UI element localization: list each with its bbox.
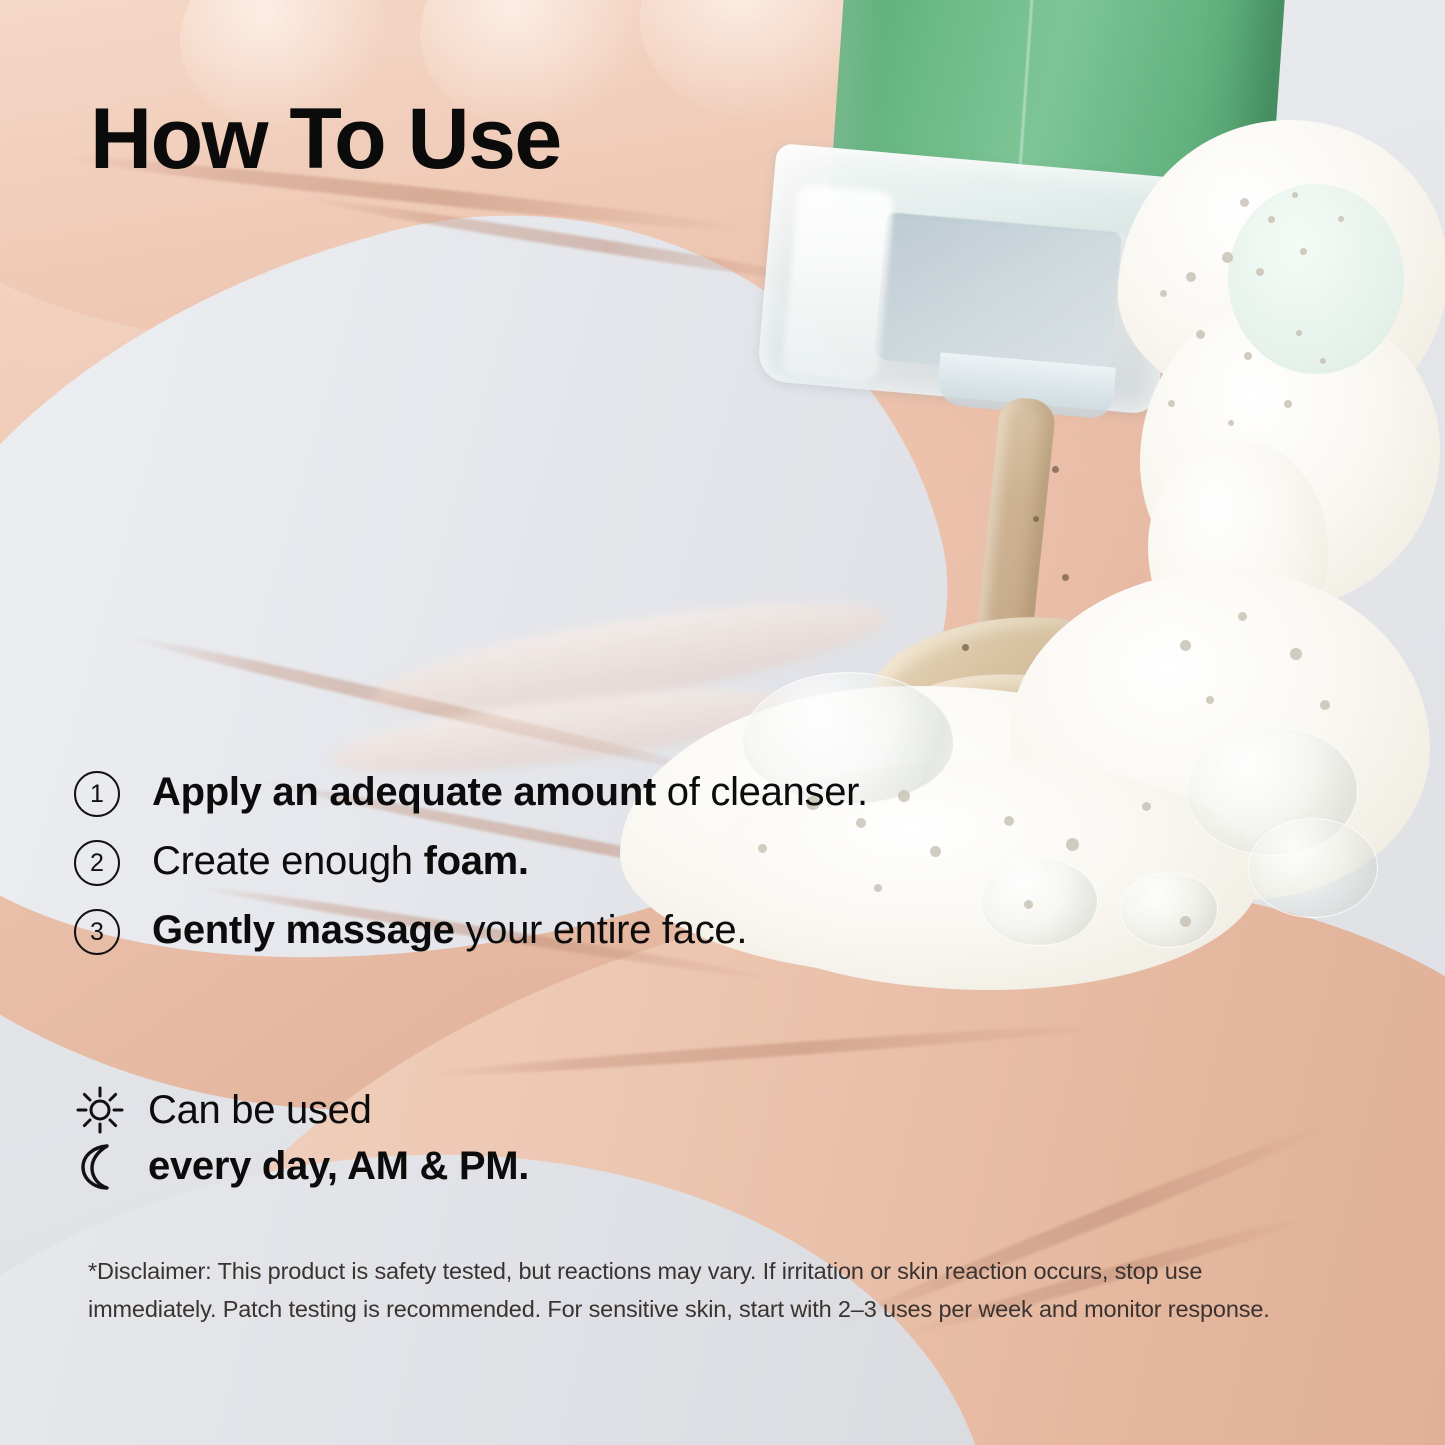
usage-night-label: every day, AM & PM. xyxy=(148,1146,529,1186)
large-foam-bubble xyxy=(1248,818,1378,918)
cap-highlight xyxy=(782,184,894,382)
how-to-use-infographic: How To Use 1 Apply an adequate amount of… xyxy=(0,0,1445,1445)
foam-bubble xyxy=(1320,700,1330,710)
foam-bubble xyxy=(1180,640,1191,651)
foam-bubble xyxy=(1228,420,1234,426)
step-text-regular: Create enough xyxy=(152,839,424,883)
step-number-badge: 2 xyxy=(74,840,120,886)
usage-row-night: every day, AM & PM. xyxy=(74,1138,974,1194)
foam-bubble xyxy=(1244,352,1252,360)
foam-bubble xyxy=(1222,252,1233,263)
step-text-bold: Apply an adequate amount xyxy=(152,770,656,814)
step-text: Create enough foam. xyxy=(152,835,529,888)
step-text-regular: your entire face. xyxy=(455,908,748,952)
foam-bubble xyxy=(1066,838,1079,851)
foam-bubble xyxy=(1338,216,1344,222)
foam-bubble xyxy=(1160,290,1167,297)
foam-bubble xyxy=(1268,216,1275,223)
step-text: Gently massage your entire face. xyxy=(152,904,747,957)
foam-bubble xyxy=(1256,268,1264,276)
exfoliant-speck xyxy=(1033,516,1039,522)
foam-bubble xyxy=(1240,198,1249,207)
product-photo xyxy=(0,0,1445,1445)
foam-bubble xyxy=(1320,358,1326,364)
foam-bubble xyxy=(1196,330,1205,339)
steps-list: 1 Apply an adequate amount of cleanser. … xyxy=(74,766,974,974)
foam-bubble xyxy=(1290,648,1302,660)
step-text-bold: foam. xyxy=(424,839,529,883)
foam-bubble xyxy=(1296,330,1302,336)
usage-row-day: Can be used xyxy=(74,1082,974,1138)
step-text-regular: of cleanser. xyxy=(656,770,868,814)
foam-bubble xyxy=(1292,192,1298,198)
step-number-badge: 3 xyxy=(74,909,120,955)
foam-bubble xyxy=(1284,400,1292,408)
foam-bubble xyxy=(1024,900,1033,909)
exfoliant-speck xyxy=(1052,466,1059,473)
moon-icon xyxy=(74,1140,126,1192)
foam-tinted-green xyxy=(1228,184,1404,374)
step-number-badge: 1 xyxy=(74,771,120,817)
foam-bubble xyxy=(1168,400,1175,407)
foam-bubble xyxy=(1142,802,1151,811)
foam-bubble xyxy=(1180,916,1191,927)
foam-bubble xyxy=(1186,272,1196,282)
exfoliant-speck xyxy=(1062,574,1069,581)
step-item: 3 Gently massage your entire face. xyxy=(74,904,974,957)
foam-bubble xyxy=(1238,612,1247,621)
page-title: How To Use xyxy=(90,96,561,182)
step-item: 2 Create enough foam. xyxy=(74,835,974,888)
step-item: 1 Apply an adequate amount of cleanser. xyxy=(74,766,974,819)
usage-day-label: Can be used xyxy=(148,1090,372,1130)
large-foam-bubble xyxy=(1120,872,1218,948)
foam-bubble xyxy=(1206,696,1214,704)
usage-frequency: Can be used every day, AM & PM. xyxy=(74,1082,974,1194)
step-text: Apply an adequate amount of cleanser. xyxy=(152,766,868,819)
large-foam-bubble xyxy=(980,858,1098,946)
sun-icon xyxy=(74,1084,126,1136)
foam-bubble xyxy=(1004,816,1014,826)
exfoliant-speck xyxy=(962,644,969,651)
step-text-bold: Gently massage xyxy=(152,908,455,952)
disclaimer-text: *Disclaimer: This product is safety test… xyxy=(88,1252,1283,1328)
foam-bubble xyxy=(1300,248,1307,255)
cap-window xyxy=(874,212,1122,380)
